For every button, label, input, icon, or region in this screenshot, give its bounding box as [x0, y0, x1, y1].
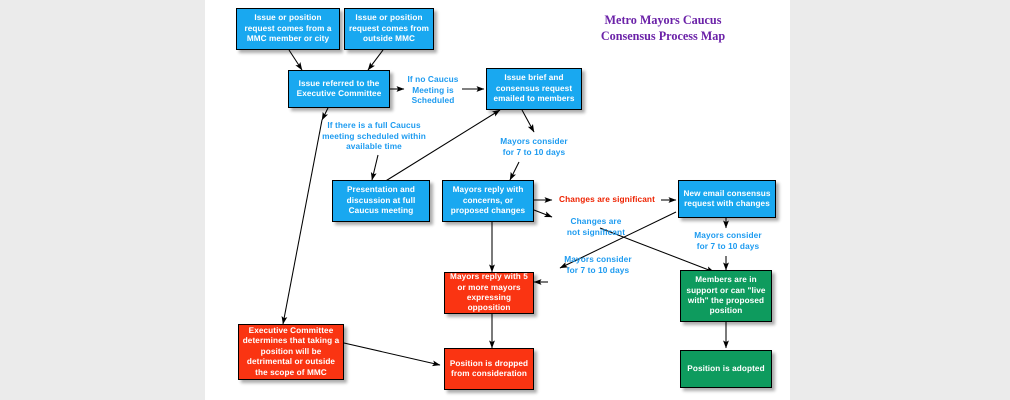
node-source-outside[interactable]: Issue or position request comes from out…	[344, 8, 434, 50]
edge-label-mayors-consider-1: Mayors consider for 7 to 10 days	[484, 136, 584, 157]
node-label: Position is dropped from consideration	[448, 359, 530, 380]
node-label: Issue or position request comes from a M…	[240, 13, 336, 44]
node-opposition[interactable]: Mayors reply with 5 or more mayors expre…	[444, 272, 534, 314]
edge-label-consider1-to-mayorsreply	[510, 162, 519, 180]
edge-label-no-caucus: If no Caucus Meeting is Scheduled	[404, 74, 462, 106]
node-label: Issue referred to the Executive Committe…	[292, 79, 386, 100]
node-presentation[interactable]: Presentation and discussion at full Cauc…	[332, 180, 430, 222]
edge-label-mayors-consider-2: Mayors consider for 7 to 10 days	[548, 254, 648, 275]
node-label: Members are in support or can "live with…	[684, 275, 768, 317]
edge-label-mayors-consider-3: Mayors consider for 7 to 10 days	[678, 230, 778, 251]
edge-mayorsreply-to-label-notsignificant	[534, 210, 552, 217]
node-label: Issue brief and consensus request emaile…	[490, 73, 578, 104]
node-new-email[interactable]: New email consensus request with changes	[678, 180, 776, 218]
node-adopted[interactable]: Position is adopted	[680, 350, 772, 388]
edge-label-changes-not-significant: Changes are not significant	[552, 216, 640, 237]
node-referred-exec[interactable]: Issue referred to the Executive Committe…	[288, 70, 390, 108]
node-label: Mayors reply with 5 or more mayors expre…	[448, 272, 530, 314]
node-label: Executive Committee determines that taki…	[242, 326, 340, 378]
edge-label-changes-significant: Changes are significant	[552, 194, 662, 205]
edge-source-mmc-to-exec	[289, 50, 302, 70]
edge-exec-to-label-fullcaucus	[322, 108, 328, 120]
edge-source-outside-to-exec	[368, 50, 383, 70]
node-dropped[interactable]: Position is dropped from consideration	[444, 348, 534, 390]
node-label: Mayors reply with concerns, or proposed …	[446, 185, 530, 216]
node-label: Issue or position request comes from out…	[348, 13, 430, 44]
node-mayors-reply[interactable]: Mayors reply with concerns, or proposed …	[442, 180, 534, 222]
node-label: Position is adopted	[684, 364, 768, 374]
edge-label-full-caucus: If there is a full Caucus meeting schedu…	[300, 120, 448, 152]
edge-detrimental-to-dropped	[344, 343, 440, 365]
edge-brief-to-label-consider1	[522, 110, 534, 132]
node-issue-brief[interactable]: Issue brief and consensus request emaile…	[486, 68, 582, 110]
node-members-support[interactable]: Members are in support or can "live with…	[680, 270, 772, 322]
node-source-mmc[interactable]: Issue or position request comes from a M…	[236, 8, 340, 50]
node-exec-detrimental[interactable]: Executive Committee determines that taki…	[238, 324, 344, 380]
node-label: Presentation and discussion at full Cauc…	[336, 185, 426, 216]
page-title: Metro Mayors Caucus Consensus Process Ma…	[548, 12, 778, 44]
edge-label-fullcaucus-to-presentation	[372, 155, 378, 180]
process-flowchart: Metro Mayors Caucus Consensus Process Ma…	[0, 0, 1010, 400]
node-label: New email consensus request with changes	[682, 189, 772, 210]
diagram-canvas: Metro Mayors Caucus Consensus Process Ma…	[0, 0, 1010, 400]
